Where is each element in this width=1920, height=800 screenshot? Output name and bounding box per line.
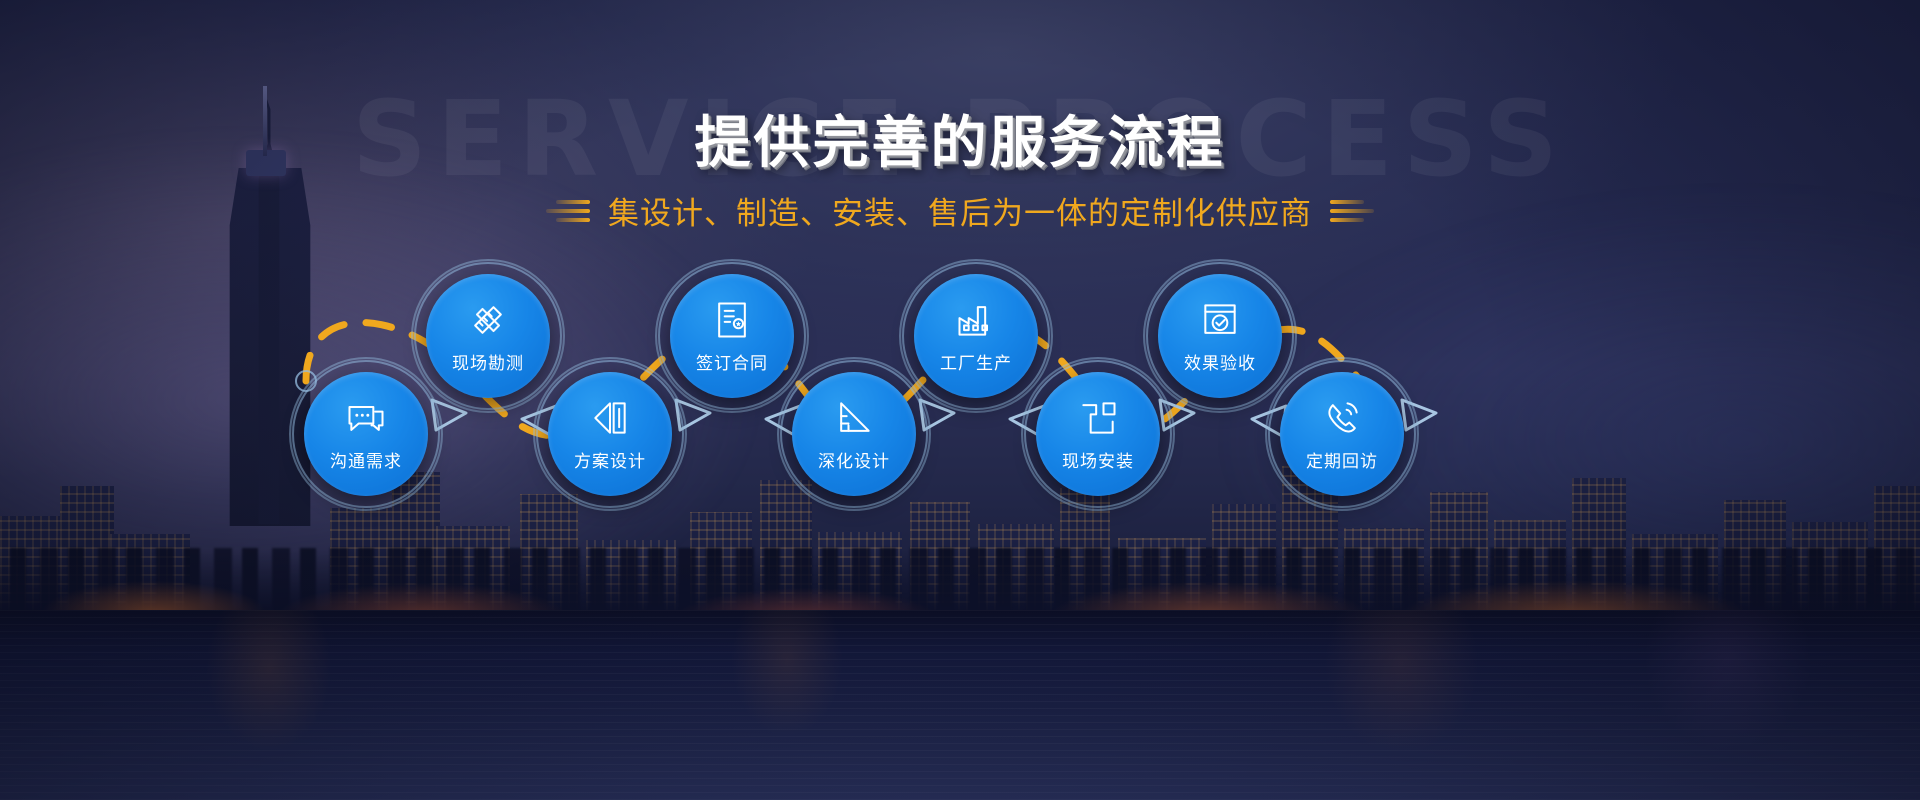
flow-step-6-label: 工厂生产	[940, 349, 1012, 374]
flow-step-2[interactable]: 现场勘测	[414, 262, 562, 410]
install-tool-icon	[1076, 396, 1120, 440]
flow-step-8[interactable]: 效果验收	[1146, 262, 1294, 410]
contract-document-icon	[710, 298, 754, 342]
flow-step-8-label: 效果验收	[1184, 349, 1256, 374]
factory-icon	[954, 298, 998, 342]
service-process-flow: 沟通需求 现场勘测	[0, 250, 1920, 540]
flow-step-1-label: 沟通需求	[330, 447, 402, 472]
flow-step-5-label: 深化设计	[818, 447, 890, 472]
flow-step-4-label: 签订合同	[696, 349, 768, 374]
page-subtitle: 集设计、制造、安装、售后为一体的定制化供应商	[608, 188, 1312, 233]
flow-step-4[interactable]: 签订合同	[658, 262, 806, 410]
flow-step-1[interactable]: 沟通需求	[292, 360, 440, 508]
flow-step-9-label: 定期回访	[1306, 447, 1378, 472]
phone-call-icon	[1320, 396, 1364, 440]
flow-step-3-label: 方案设计	[574, 447, 646, 472]
chat-bubble-icon	[344, 396, 388, 440]
subtitle-right-mark-icon	[1330, 200, 1380, 222]
flow-step-9[interactable]: 定期回访	[1268, 360, 1416, 508]
flow-step-2-label: 现场勘测	[452, 349, 524, 374]
water-reflections	[0, 610, 1920, 800]
ruler-pencil-icon	[466, 298, 510, 342]
flow-step-7[interactable]: 现场安装	[1024, 360, 1172, 508]
subtitle-left-mark-icon	[540, 200, 590, 222]
flow-step-5[interactable]: 深化设计	[780, 360, 928, 508]
flow-step-6[interactable]: 工厂生产	[902, 262, 1050, 410]
checked-screen-icon	[1198, 298, 1242, 342]
flow-step-7-label: 现场安装	[1062, 447, 1134, 472]
banner-stage: SERVICE PROCESS 提供完善的服务流程 集设计、制造、安装、售后为一…	[0, 0, 1920, 800]
flow-step-3[interactable]: 方案设计	[536, 360, 684, 508]
set-square-icon	[832, 396, 876, 440]
page-title: 提供完善的服务流程	[0, 98, 1920, 179]
subtitle-row: 集设计、制造、安装、售后为一体的定制化供应商	[0, 188, 1920, 233]
design-draft-icon	[588, 396, 632, 440]
